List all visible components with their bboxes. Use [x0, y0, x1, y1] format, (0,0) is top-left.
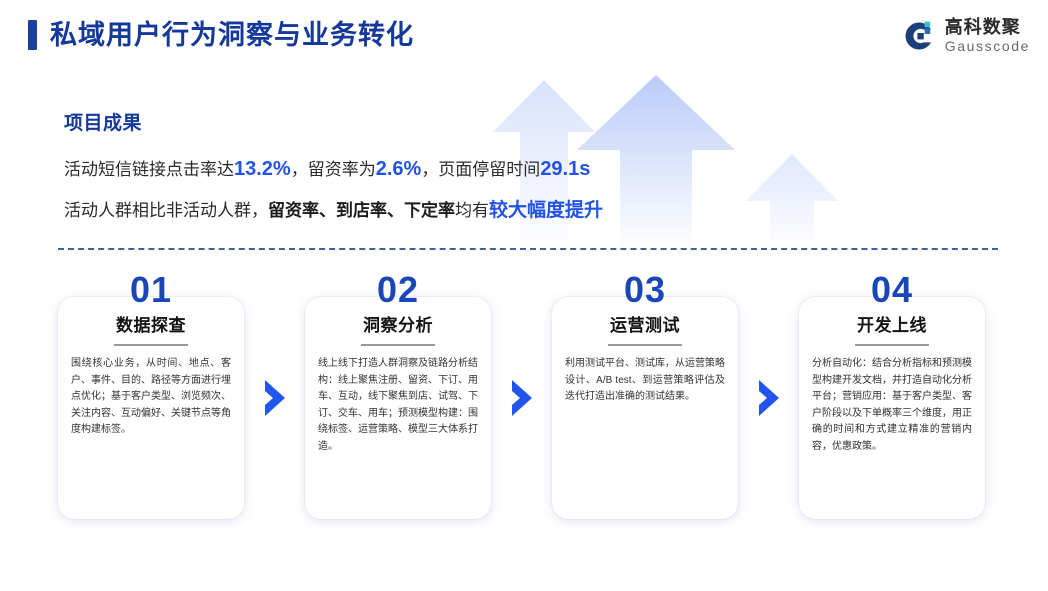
step-number: 01: [58, 272, 244, 308]
chevron-right-icon: [509, 380, 535, 416]
brand-logo: 高科数聚 Gausscode: [902, 18, 1030, 53]
step-title: 数据探查: [71, 317, 231, 334]
results-line2-text1: 活动人群相比非活动人群，: [64, 201, 268, 220]
gausscode-logo-icon: [902, 19, 936, 53]
process-step-3[interactable]: 03 运营测试 利用测试平台、测试库，从运营策略设计、A/B test、到运营策…: [552, 272, 738, 527]
process-step-2[interactable]: 02 洞察分析 线上线下打造人群洞察及链路分析结构：线上聚焦注册、留资、下订、用…: [305, 272, 491, 527]
results-line2-bold: 留资率、到店率、下定率: [268, 201, 455, 220]
step-card[interactable]: 数据探查 围绕核心业务，从时间、地点、客户、事件、目的、路径等方面进行埋点优化；…: [58, 297, 244, 519]
logo-name-en: Gausscode: [945, 39, 1030, 53]
step-description: 利用测试平台、测试库，从运营策略设计、A/B test、到运营策略评估及迭代打造…: [565, 356, 725, 406]
results-line1-text2: ，留资率为: [291, 160, 376, 179]
results-line-1: 活动短信链接点击率达13.2%，留资率为2.6%，页面停留时间29.1s: [64, 159, 944, 179]
section-divider: [58, 248, 998, 250]
step-card[interactable]: 开发上线 分析自动化：结合分析指标和预测模型构建开发文档，并打造自动化分析平台；…: [799, 297, 985, 519]
step-title: 开发上线: [812, 317, 972, 334]
step-title-rule: [114, 344, 188, 346]
results-heading: 项目成果: [64, 108, 944, 135]
results-metric-dwelltime: 29.1s: [540, 158, 590, 180]
results-line2-highlight: 较大幅度提升: [489, 200, 603, 221]
step-card[interactable]: 洞察分析 线上线下打造人群洞察及链路分析结构：线上聚焦注册、留资、下订、用车、互…: [305, 297, 491, 519]
step-title: 运营测试: [565, 317, 725, 334]
results-line2-text2: 均有: [455, 201, 489, 220]
process-steps: 01 数据探查 围绕核心业务，从时间、地点、客户、事件、目的、路径等方面进行埋点…: [58, 272, 1008, 532]
step-description: 围绕核心业务，从时间、地点、客户、事件、目的、路径等方面进行埋点优化；基于客户类…: [71, 356, 231, 439]
logo-name-cn: 高科数聚: [945, 18, 1030, 36]
step-card[interactable]: 运营测试 利用测试平台、测试库，从运营策略设计、A/B test、到运营策略评估…: [552, 297, 738, 519]
slide-canvas: 私域用户行为洞察与业务转化 高科数聚 Gausscode 项目成果 活动短信链接…: [0, 0, 1048, 591]
title-accent-bar: [28, 20, 37, 50]
step-number: 02: [305, 272, 491, 308]
step-number: 04: [799, 272, 985, 308]
page-title-group: 私域用户行为洞察与业务转化: [28, 20, 414, 50]
step-title-rule: [855, 344, 929, 346]
results-line1-text3: ，页面停留时间: [421, 160, 540, 179]
step-title-rule: [608, 344, 682, 346]
logo-text-group: 高科数聚 Gausscode: [945, 18, 1030, 53]
chevron-right-icon: [756, 380, 782, 416]
step-title: 洞察分析: [318, 317, 478, 334]
results-metric-ctr: 13.2%: [234, 158, 291, 180]
process-step-4[interactable]: 04 开发上线 分析自动化：结合分析指标和预测模型构建开发文档，并打造自动化分析…: [799, 272, 985, 527]
results-line1-text1: 活动短信链接点击率达: [64, 160, 234, 179]
project-results-section: 项目成果 活动短信链接点击率达13.2%，留资率为2.6%，页面停留时间29.1…: [64, 108, 944, 242]
step-description: 线上线下打造人群洞察及链路分析结构：线上聚焦注册、留资、下订、用车、互动，线下聚…: [318, 356, 478, 455]
results-metric-leadrate: 2.6%: [376, 158, 422, 180]
slide-header: 私域用户行为洞察与业务转化 高科数聚 Gausscode: [0, 0, 1048, 82]
step-number: 03: [552, 272, 738, 308]
step-title-rule: [361, 344, 435, 346]
step-description: 分析自动化：结合分析指标和预测模型构建开发文档，并打造自动化分析平台；营销应用：…: [812, 356, 972, 455]
page-title: 私域用户行为洞察与业务转化: [50, 22, 414, 49]
process-step-1[interactable]: 01 数据探查 围绕核心业务，从时间、地点、客户、事件、目的、路径等方面进行埋点…: [58, 272, 244, 527]
chevron-right-icon: [262, 380, 288, 416]
results-line-2: 活动人群相比非活动人群，留资率、到店率、下定率均有较大幅度提升: [64, 201, 944, 220]
